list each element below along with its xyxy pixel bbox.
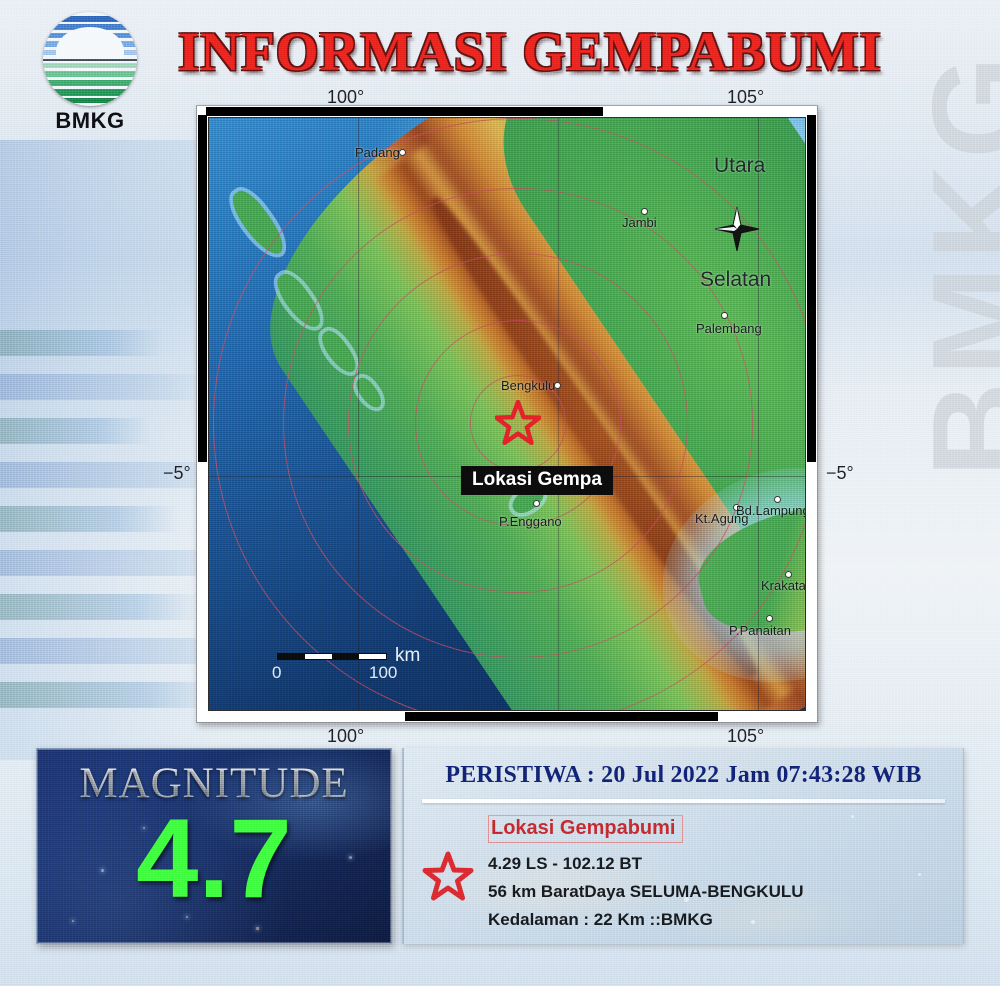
epicenter-depth: Kedalaman : 22 Km ::BMKG xyxy=(488,910,963,930)
city-dot-palembang xyxy=(721,312,728,319)
earthquake-info-poster: BMKG BMKG INFORMASI GEMPABUMI 100° 105 xyxy=(0,0,1000,986)
city-label-jambi: Jambi xyxy=(622,215,657,230)
axis-label-bottom-105: 105° xyxy=(727,726,764,747)
city-dot-krakatau xyxy=(785,571,792,578)
city-dot-bdlampung xyxy=(774,496,781,503)
graticule-lon-102 xyxy=(558,118,559,710)
city-label-palembang: Palembang xyxy=(696,321,762,336)
compass-rose-icon xyxy=(714,206,760,252)
epicenter-place: 56 km BaratDaya SELUMA-BENGKULU xyxy=(488,882,963,902)
panel-divider xyxy=(422,799,945,803)
map-frame-left xyxy=(198,115,207,713)
poster-header: BMKG INFORMASI GEMPABUMI xyxy=(0,0,1000,100)
city-dot-padang xyxy=(399,149,406,156)
event-datetime: PERISTIWA : 20 Jul 2022 Jam 07:43:28 WIB xyxy=(404,762,963,789)
event-info-panel: PERISTIWA : 20 Jul 2022 Jam 07:43:28 WIB… xyxy=(402,748,964,944)
earthquake-map[interactable]: Padang Jambi Palembang Bengkulu P.Enggan… xyxy=(196,105,818,723)
magnitude-panel: MAGNITUDE 4.7 xyxy=(36,748,392,944)
city-dot-enggano xyxy=(533,500,540,507)
city-dot-panaitan xyxy=(766,615,773,622)
epicenter-star-icon[interactable] xyxy=(495,400,541,446)
map-canvas[interactable]: Padang Jambi Palembang Bengkulu P.Enggan… xyxy=(208,117,806,711)
map-frame-top xyxy=(206,107,808,116)
magnitude-value: 4.7 xyxy=(37,800,391,918)
bmkg-logo-label: BMKG xyxy=(36,108,144,134)
axis-label-bottom-100: 100° xyxy=(327,726,364,747)
epicenter-coordinates: 4.29 LS - 102.12 BT xyxy=(488,854,963,874)
bmkg-text-watermark: BMKG xyxy=(903,50,1000,477)
city-label-krakatau: Krakatau xyxy=(761,578,806,593)
city-label-panaitan: P.Panaitan xyxy=(729,623,791,638)
city-label-bdlampung: Bd.Lampung xyxy=(736,503,806,518)
epicenter-label: Lokasi Gempa xyxy=(461,466,613,495)
location-heading: Lokasi Gempabumi xyxy=(488,815,683,843)
scalebar-tick-100: 100 xyxy=(369,663,397,683)
scalebar-tick-0: 0 xyxy=(272,663,281,683)
city-label-bengkulu: Bengkulu xyxy=(501,378,555,393)
axis-label-left-minus5: −5° xyxy=(163,463,191,484)
region-label-selatan: Selatan xyxy=(700,268,771,292)
epicenter-star-outline-icon xyxy=(422,851,474,903)
map-scalebar: km 0 100 xyxy=(277,653,387,660)
bmkg-logo: BMKG xyxy=(36,12,144,134)
page-title: INFORMASI GEMPABUMI xyxy=(160,20,900,83)
map-frame-bottom xyxy=(206,712,808,721)
city-dot-jambi xyxy=(641,208,648,215)
map-frame-right xyxy=(807,115,816,713)
bmkg-circular-emblem-icon xyxy=(43,12,137,106)
axis-label-right-minus5: −5° xyxy=(826,463,854,484)
scalebar-unit: km xyxy=(395,645,420,667)
graticule-lon-100 xyxy=(358,118,359,710)
city-label-enggano: P.Enggano xyxy=(499,514,562,529)
region-label-utara: Utara xyxy=(714,154,765,178)
scalebar-bar xyxy=(277,653,387,660)
event-details: Lokasi Gempabumi 4.29 LS - 102.12 BT 56 … xyxy=(404,815,963,930)
city-label-padang: Padang xyxy=(355,145,400,160)
